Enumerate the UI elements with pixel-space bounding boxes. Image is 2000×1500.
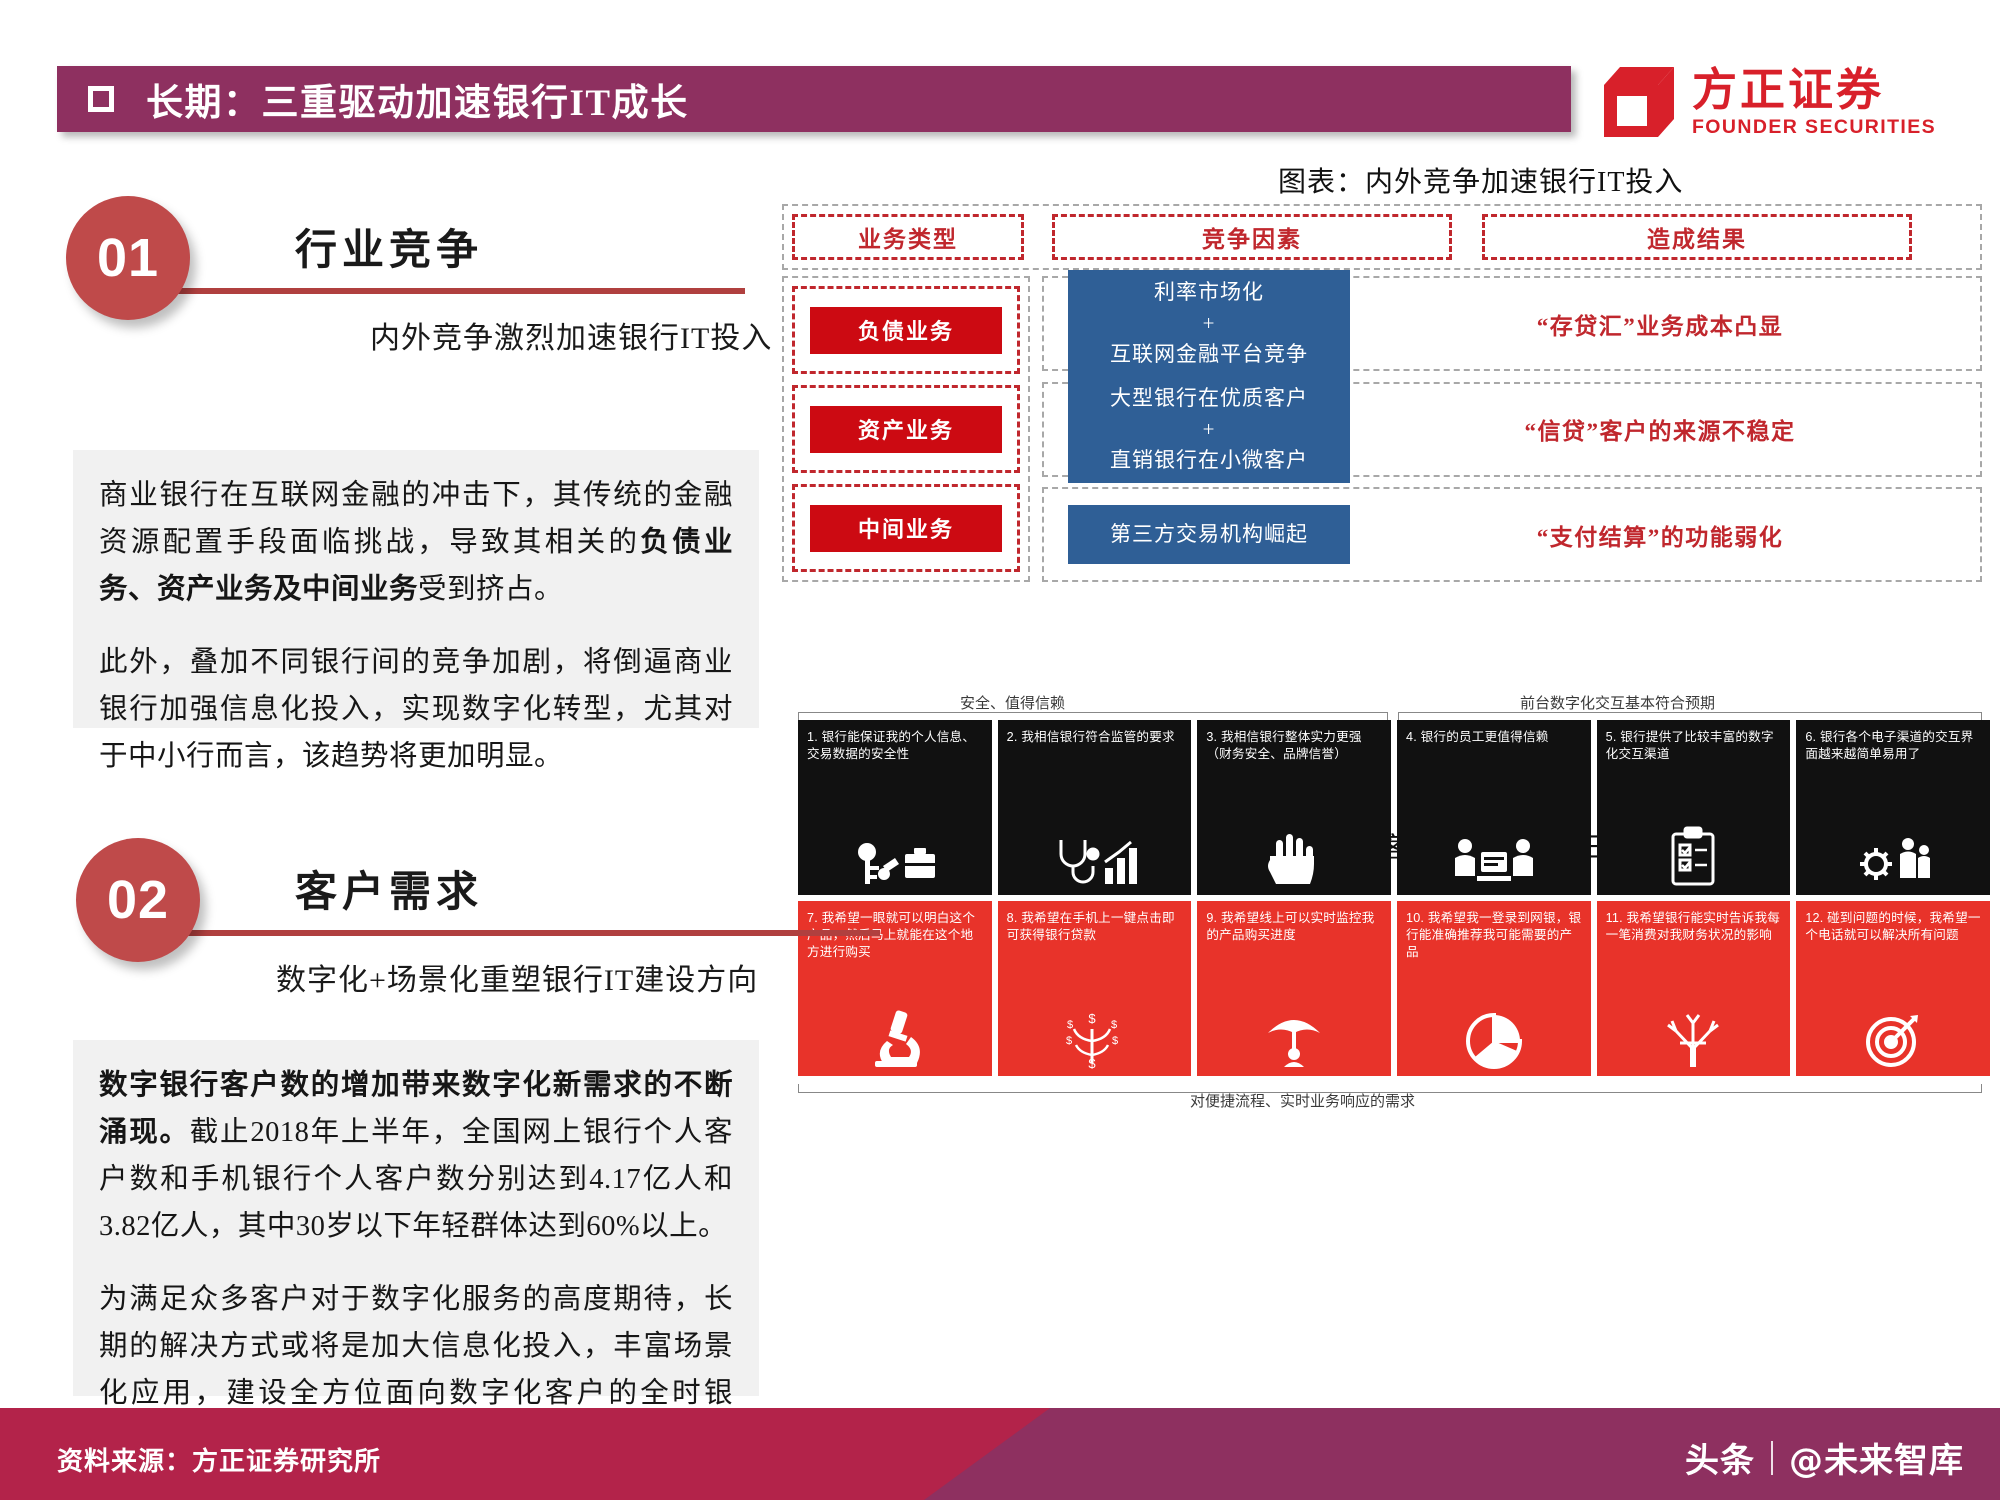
chart1-body: 负债业务 资产业务 中间业务 利率市场化 + 互联网金融平台竞争 “存贷汇”业务… [782,276,1982,582]
chart1-result-label: “支付结算”的功能弱化 [1350,518,1970,552]
people-meeting-icon [1397,836,1591,888]
svg-text:$: $ [1111,1019,1117,1031]
need-card[interactable]: 8. 我希望在手机上一键点击即可获得银行贷款 $ $ $ $ $ $ [998,901,1192,1076]
card-text: 2. 我相信银行符合监管的要求 [1007,729,1183,746]
need-card[interactable]: 1. 银行能保证我的个人信息、交易数据的安全性 [798,720,992,895]
chart1-row: 大型银行在优质客户 + 直销银行在小微客户 “信贷”客户的来源不稳定 [1042,382,1982,477]
source-note: 资料来源：方正证券研究所 [57,1441,381,1478]
svg-text:$: $ [1067,1019,1073,1031]
logo-english-name: FOUNDER SECURITIES [1692,116,1936,139]
section-02-text-panel: 数字银行客户数的增加带来数字化新需求的不断涌现。截止2018年上半年，全国网上银… [73,1040,759,1396]
logo-chinese-name: 方正证券 [1692,67,1936,113]
card-text: 12. 碰到问题的时候，我希望一个电话就可以解决所有问题 [1805,910,1981,944]
header-bar: 长期：三重驱动加速银行IT成长 [57,66,1571,132]
section-badge-01: 01 [66,196,190,320]
chart1-factor-box: 利率市场化 + 互联网金融平台竞争 [1068,270,1350,377]
chart1-diagram: 业务类型 竞争因素 造成结果 负债业务 资产业务 中间业务 利率市场化 [782,204,1982,582]
watermark-separator [1771,1441,1773,1475]
chart1-factor-line: + [1072,308,1346,339]
section-01-text-panel: 商业银行在互联网金融的冲击下，其传统的金融资源配置手段面临挑战，导致其相关的负债… [73,450,759,728]
target-dart-icon [1796,1013,1990,1069]
chart1-factor-line: + [1072,414,1346,445]
need-card[interactable]: 6. 银行各个电子渠道的交互界面越来越简单易用了 [1796,720,1990,895]
raised-hand-icon [1197,830,1391,888]
growth-tree-icon [1597,1013,1791,1069]
section-title-01: 行业竞争 [295,216,483,277]
card-text: 10. 我希望我一登录到网银，银行能准确推荐我可能需要的产品 [1406,910,1582,961]
need-card[interactable]: 2. 我相信银行符合监管的要求 [998,720,1192,895]
stethoscope-chart-icon [998,834,1192,888]
bracket-label-bottom: 对便捷流程、实时业务响应的需求 [1190,1090,1415,1111]
chart1-header-cell: 业务类型 [792,214,1024,260]
svg-text:$: $ [1089,1011,1097,1026]
chart1-factor-line: 第三方交易机构崛起 [1072,519,1346,550]
key-briefcase-icon [798,836,992,888]
section-rule-01 [170,288,745,294]
chart1-factor-line: 互联网金融平台竞争 [1072,339,1346,370]
bracket-label-top-left: 安全、值得信赖 [960,692,1065,713]
need-card[interactable]: 10. 我希望我一登录到网银，银行能准确推荐我可能需要的产品 [1397,901,1591,1076]
founder-cube-icon [1600,65,1678,141]
section-subtitle-02: 数字化+场景化重塑银行IT建设方向 [276,955,758,999]
card-text: 6. 银行各个电子渠道的交互界面越来越简单易用了 [1805,729,1981,763]
chart1-result-label: “信贷”客户的来源不稳定 [1350,412,1970,446]
chart1-type-cell: 中间业务 [792,484,1020,572]
page-title: 长期：三重驱动加速银行IT成长 [146,72,689,126]
section-badge-02: 02 [76,838,200,962]
card-text: 4. 银行的员工更值得信赖 [1406,729,1582,746]
pie-chart-icon [1397,1013,1591,1069]
chart1-type-label: 资产业务 [810,406,1002,453]
chart1-factor-box: 大型银行在优质客户 + 直销银行在小微客户 [1068,376,1350,483]
chart1-type-cell: 资产业务 [792,385,1020,473]
chart1-factor-line: 大型银行在优质客户 [1072,383,1346,414]
svg-text:$: $ [1112,1035,1118,1047]
chart1-header-cell: 造成结果 [1482,214,1912,260]
section-number: 02 [107,869,169,931]
card-text: 3. 我相信银行整体实力更强（财务安全、品牌信誉） [1206,729,1382,763]
section-subtitle-01: 内外竞争激烈加速银行IT投入 [370,313,772,357]
chart1-type-column: 负债业务 资产业务 中间业务 [782,276,1030,582]
watermark-right-label: @未来智库 [1789,1433,1964,1482]
need-card[interactable]: 7. 我希望一眼就可以明白这个产品，然后马上就能在这个地方进行购买 [798,901,992,1076]
need-card[interactable]: 3. 我相信银行整体实力更强（财务安全、品牌信誉） [1197,720,1391,895]
watermark: 头条 @未来智库 [1685,1433,1964,1482]
slide-page: 长期：三重驱动加速银行IT成长 方正证券 FOUNDER SECURITIES … [0,0,2000,1500]
brand-logo: 方正证券 FOUNDER SECURITIES [1600,58,1982,148]
card-text: 11. 我希望银行能实时告诉我每一笔消费对我财务状况的影响 [1606,910,1782,944]
bracket-label-top-right: 前台数字化交互基本符合预期 [1520,692,1715,713]
chart1-type-cell: 负债业务 [792,286,1020,374]
paragraph: 此外，叠加不同银行间的竞争加剧，将倒逼商业银行加强信息化投入，实现数字化转型，尤… [99,639,733,780]
chart1-factor-line: 利率市场化 [1072,277,1346,308]
paragraph: 数字银行客户数的增加带来数字化新需求的不断涌现。截止2018年上半年，全国网上银… [99,1062,733,1250]
chart1-row: 第三方交易机构崛起 “支付结算”的功能弱化 [1042,487,1982,582]
square-outline-icon [88,86,114,112]
chart1-result-label: “存贷汇”业务成本凸显 [1350,307,1970,341]
chart1-type-label: 中间业务 [810,505,1002,552]
chart1-factor-result-column: 利率市场化 + 互联网金融平台竞争 “存贷汇”业务成本凸显 大型银行在优质客户 … [1042,276,1982,582]
need-card[interactable]: 12. 碰到问题的时候，我希望一个电话就可以解决所有问题 [1796,901,1990,1076]
microscope-icon [798,1007,992,1069]
card-text: 8. 我希望在手机上一键点击即可获得银行贷款 [1007,910,1183,944]
chart1-row: 利率市场化 + 互联网金融平台竞争 “存贷汇”业务成本凸显 [1042,276,1982,371]
chart2-card-grid-wrap: 安全、值得信赖 前台数字化交互基本符合预期 1. 银行能保证我的个人信息、交易数… [790,692,1990,1122]
gears-people-icon [1796,834,1990,888]
watermark-left-label: 头条 [1685,1433,1755,1482]
need-card[interactable]: 11. 我希望银行能实时告诉我每一笔消费对我财务状况的影响 [1597,901,1791,1076]
card-text: 1. 银行能保证我的个人信息、交易数据的安全性 [807,729,983,763]
checklist-clipboard-icon [1597,826,1791,888]
need-card[interactable]: 4. 银行的员工更值得信赖 [1397,720,1591,895]
need-card[interactable]: 5. 银行提供了比较丰富的数字化交互渠道 [1597,720,1791,895]
chart1-factor-line: 直销银行在小微客户 [1072,445,1346,476]
section-title-02: 客户需求 [295,858,483,919]
chart1-type-label: 负债业务 [810,307,1002,354]
chart1-header-row: 业务类型 竞争因素 造成结果 [782,204,1982,270]
need-card[interactable]: 9. 我希望线上可以实时监控我的产品购买进度 [1197,901,1391,1076]
card-text: 9. 我希望线上可以实时监控我的产品购买进度 [1206,910,1382,944]
chart1-factor-box: 第三方交易机构崛起 [1068,505,1350,564]
chart1-header-cell: 竞争因素 [1052,214,1452,260]
section-rule-02 [180,930,880,936]
section-number: 01 [97,227,159,289]
chart2-card-grid: 1. 银行能保证我的个人信息、交易数据的安全性 2. 我相信银行符合监管的要求 [798,720,1990,1076]
svg-text:$: $ [1066,1035,1072,1047]
svg-text:$: $ [1089,1056,1097,1069]
umbrella-person-icon [1197,1011,1391,1069]
paragraph: 商业银行在互联网金融的冲击下，其传统的金融资源配置手段面临挑战，导致其相关的负债… [99,472,733,613]
chart1-caption: 图表：内外竞争加速银行IT投入 [1278,160,1683,200]
card-text: 5. 银行提供了比较丰富的数字化交互渠道 [1606,729,1782,763]
money-tree-icon: $ $ $ $ $ $ [998,1011,1192,1069]
